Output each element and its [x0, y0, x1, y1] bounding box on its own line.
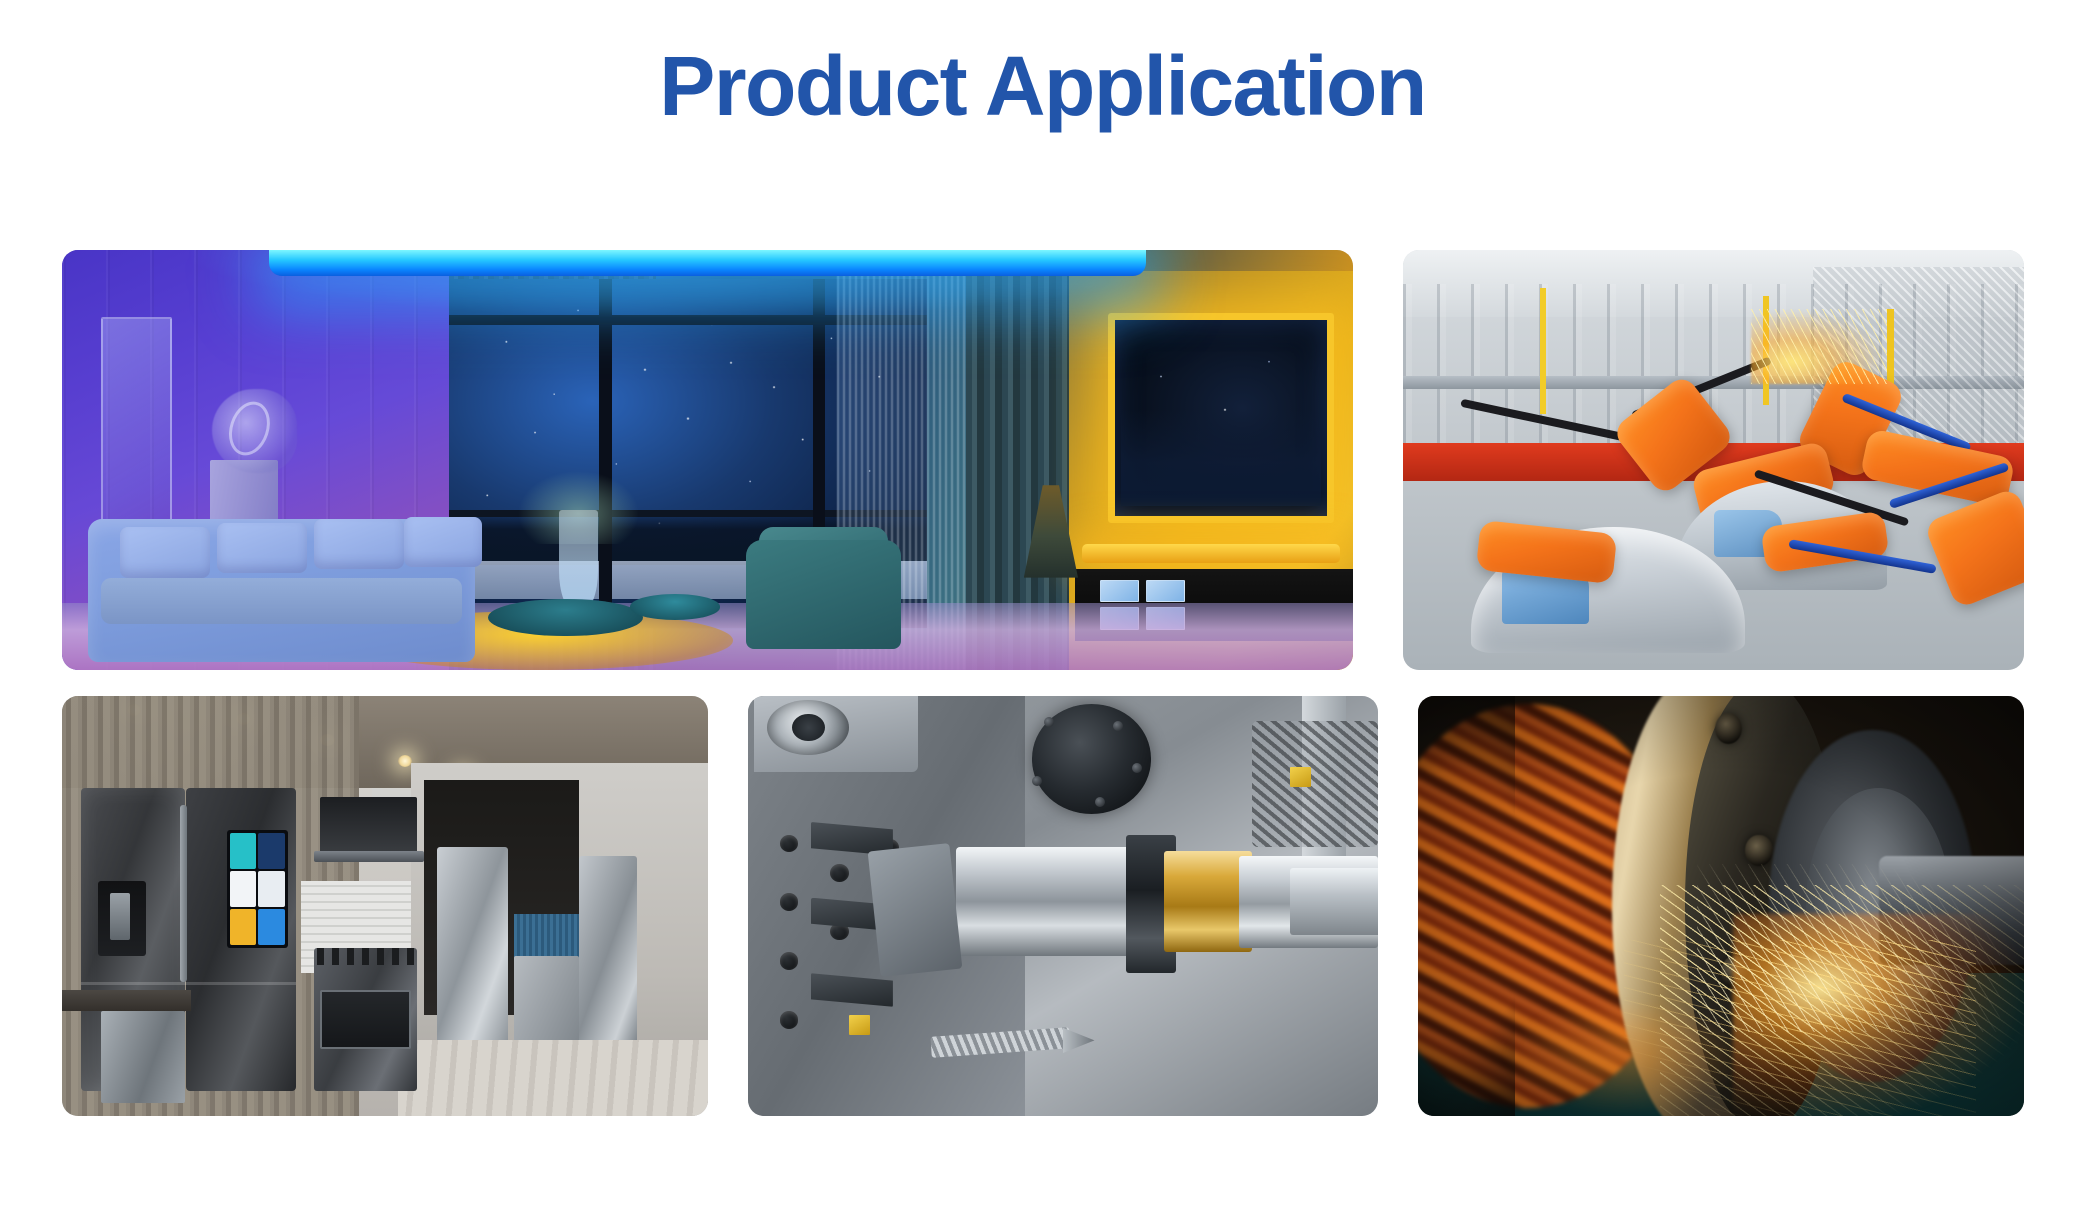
sofa-back-cushion — [217, 523, 307, 573]
sofa-back-cushion — [314, 519, 404, 569]
dispenser-nozzle — [110, 893, 131, 939]
application-image-motor-rotor-grinding[interactable]: Close-up of an electric motor rotor with… — [1418, 696, 2024, 1116]
oven-door — [320, 990, 410, 1049]
cnc-lathe-scene — [748, 696, 1378, 1116]
screen-tile — [230, 909, 257, 945]
dishwasher — [101, 1011, 185, 1103]
sofa-back-cushion — [120, 527, 210, 577]
refrigerator-touchscreen[interactable] — [227, 830, 288, 948]
steel-workpiece-shaft — [956, 847, 1145, 956]
showroom-refrigerator — [579, 856, 637, 1049]
smart-kitchen-scene — [62, 696, 708, 1116]
flange-bolt — [1095, 797, 1105, 807]
product-application-page: Product Application — [0, 0, 2085, 1210]
tool-holder — [868, 843, 963, 977]
range-hood — [320, 797, 417, 856]
application-image-smart-home-led-lighting[interactable]: Modern living room at night lit by blue … — [62, 250, 1353, 670]
application-image-automotive-robot-welding[interactable]: Automotive assembly line with orange ind… — [1403, 250, 2024, 670]
coffee-table — [488, 599, 643, 637]
application-image-gallery: Modern living room at night lit by blue … — [62, 250, 2024, 1116]
side-table — [630, 594, 720, 619]
carbide-insert — [1290, 767, 1311, 786]
drill-tip — [1063, 1028, 1095, 1053]
refrigerator-handle — [180, 805, 187, 981]
screen-tile — [258, 909, 285, 945]
application-image-cnc-lathe-machining[interactable]: CNC lathe turret machining a polished st… — [748, 696, 1378, 1116]
range-hood-lip — [314, 851, 424, 862]
sofa-seat-cushions — [101, 578, 462, 624]
showroom-refrigerator — [437, 847, 508, 1065]
flange-bolt — [1032, 776, 1042, 786]
tv-skyline-content — [1121, 410, 1321, 507]
led-living-room-scene — [62, 250, 1353, 670]
gallery-row-1: Modern living room at night lit by blue … — [62, 250, 2024, 670]
robot-arm-segment — [1923, 487, 2024, 610]
sofa-back-cushion — [404, 517, 481, 567]
chuck-center-bore — [792, 714, 825, 742]
rotor-grinding-scene — [1418, 696, 2024, 1116]
showroom-floor — [398, 1040, 708, 1116]
page-title: Product Application — [659, 44, 1425, 128]
carbide-insert — [849, 1015, 870, 1034]
showroom-range — [514, 956, 579, 1048]
welding-spark-streaks — [1751, 309, 1888, 385]
screen-tile — [258, 871, 285, 907]
screen-tile — [230, 871, 257, 907]
machined-shaft-tip — [1290, 868, 1378, 935]
bed-mounting-hole — [780, 952, 799, 970]
shelf-led-strip — [1082, 544, 1340, 563]
window-mullion-vertical-1 — [599, 279, 612, 628]
automotive-welding-scene — [1403, 250, 2024, 670]
refrigerator-door-seam — [81, 982, 295, 985]
application-image-smart-kitchen-appliances[interactable]: Appliance showroom kitchen with a black … — [62, 696, 708, 1116]
yellow-guard-post — [1540, 288, 1547, 414]
bed-mounting-hole — [830, 864, 849, 882]
console-drawer — [1100, 580, 1139, 603]
bed-mounting-hole — [780, 893, 799, 911]
countertop — [62, 990, 191, 1011]
bed-mounting-hole — [780, 1011, 799, 1029]
framed-artwork — [101, 317, 172, 535]
cooktop-grates — [317, 948, 414, 965]
glass-vase — [559, 510, 598, 611]
page-title-container: Product Application — [0, 44, 2085, 128]
ceiling-led-strip — [269, 250, 1147, 276]
image-vignette — [1418, 696, 2024, 1116]
metal-chips — [1252, 721, 1378, 847]
console-drawer — [1146, 580, 1185, 603]
screen-tile — [258, 833, 285, 869]
screen-tile — [230, 833, 257, 869]
teal-armchair — [746, 540, 901, 649]
gallery-row-2: Appliance showroom kitchen with a black … — [62, 696, 2024, 1116]
